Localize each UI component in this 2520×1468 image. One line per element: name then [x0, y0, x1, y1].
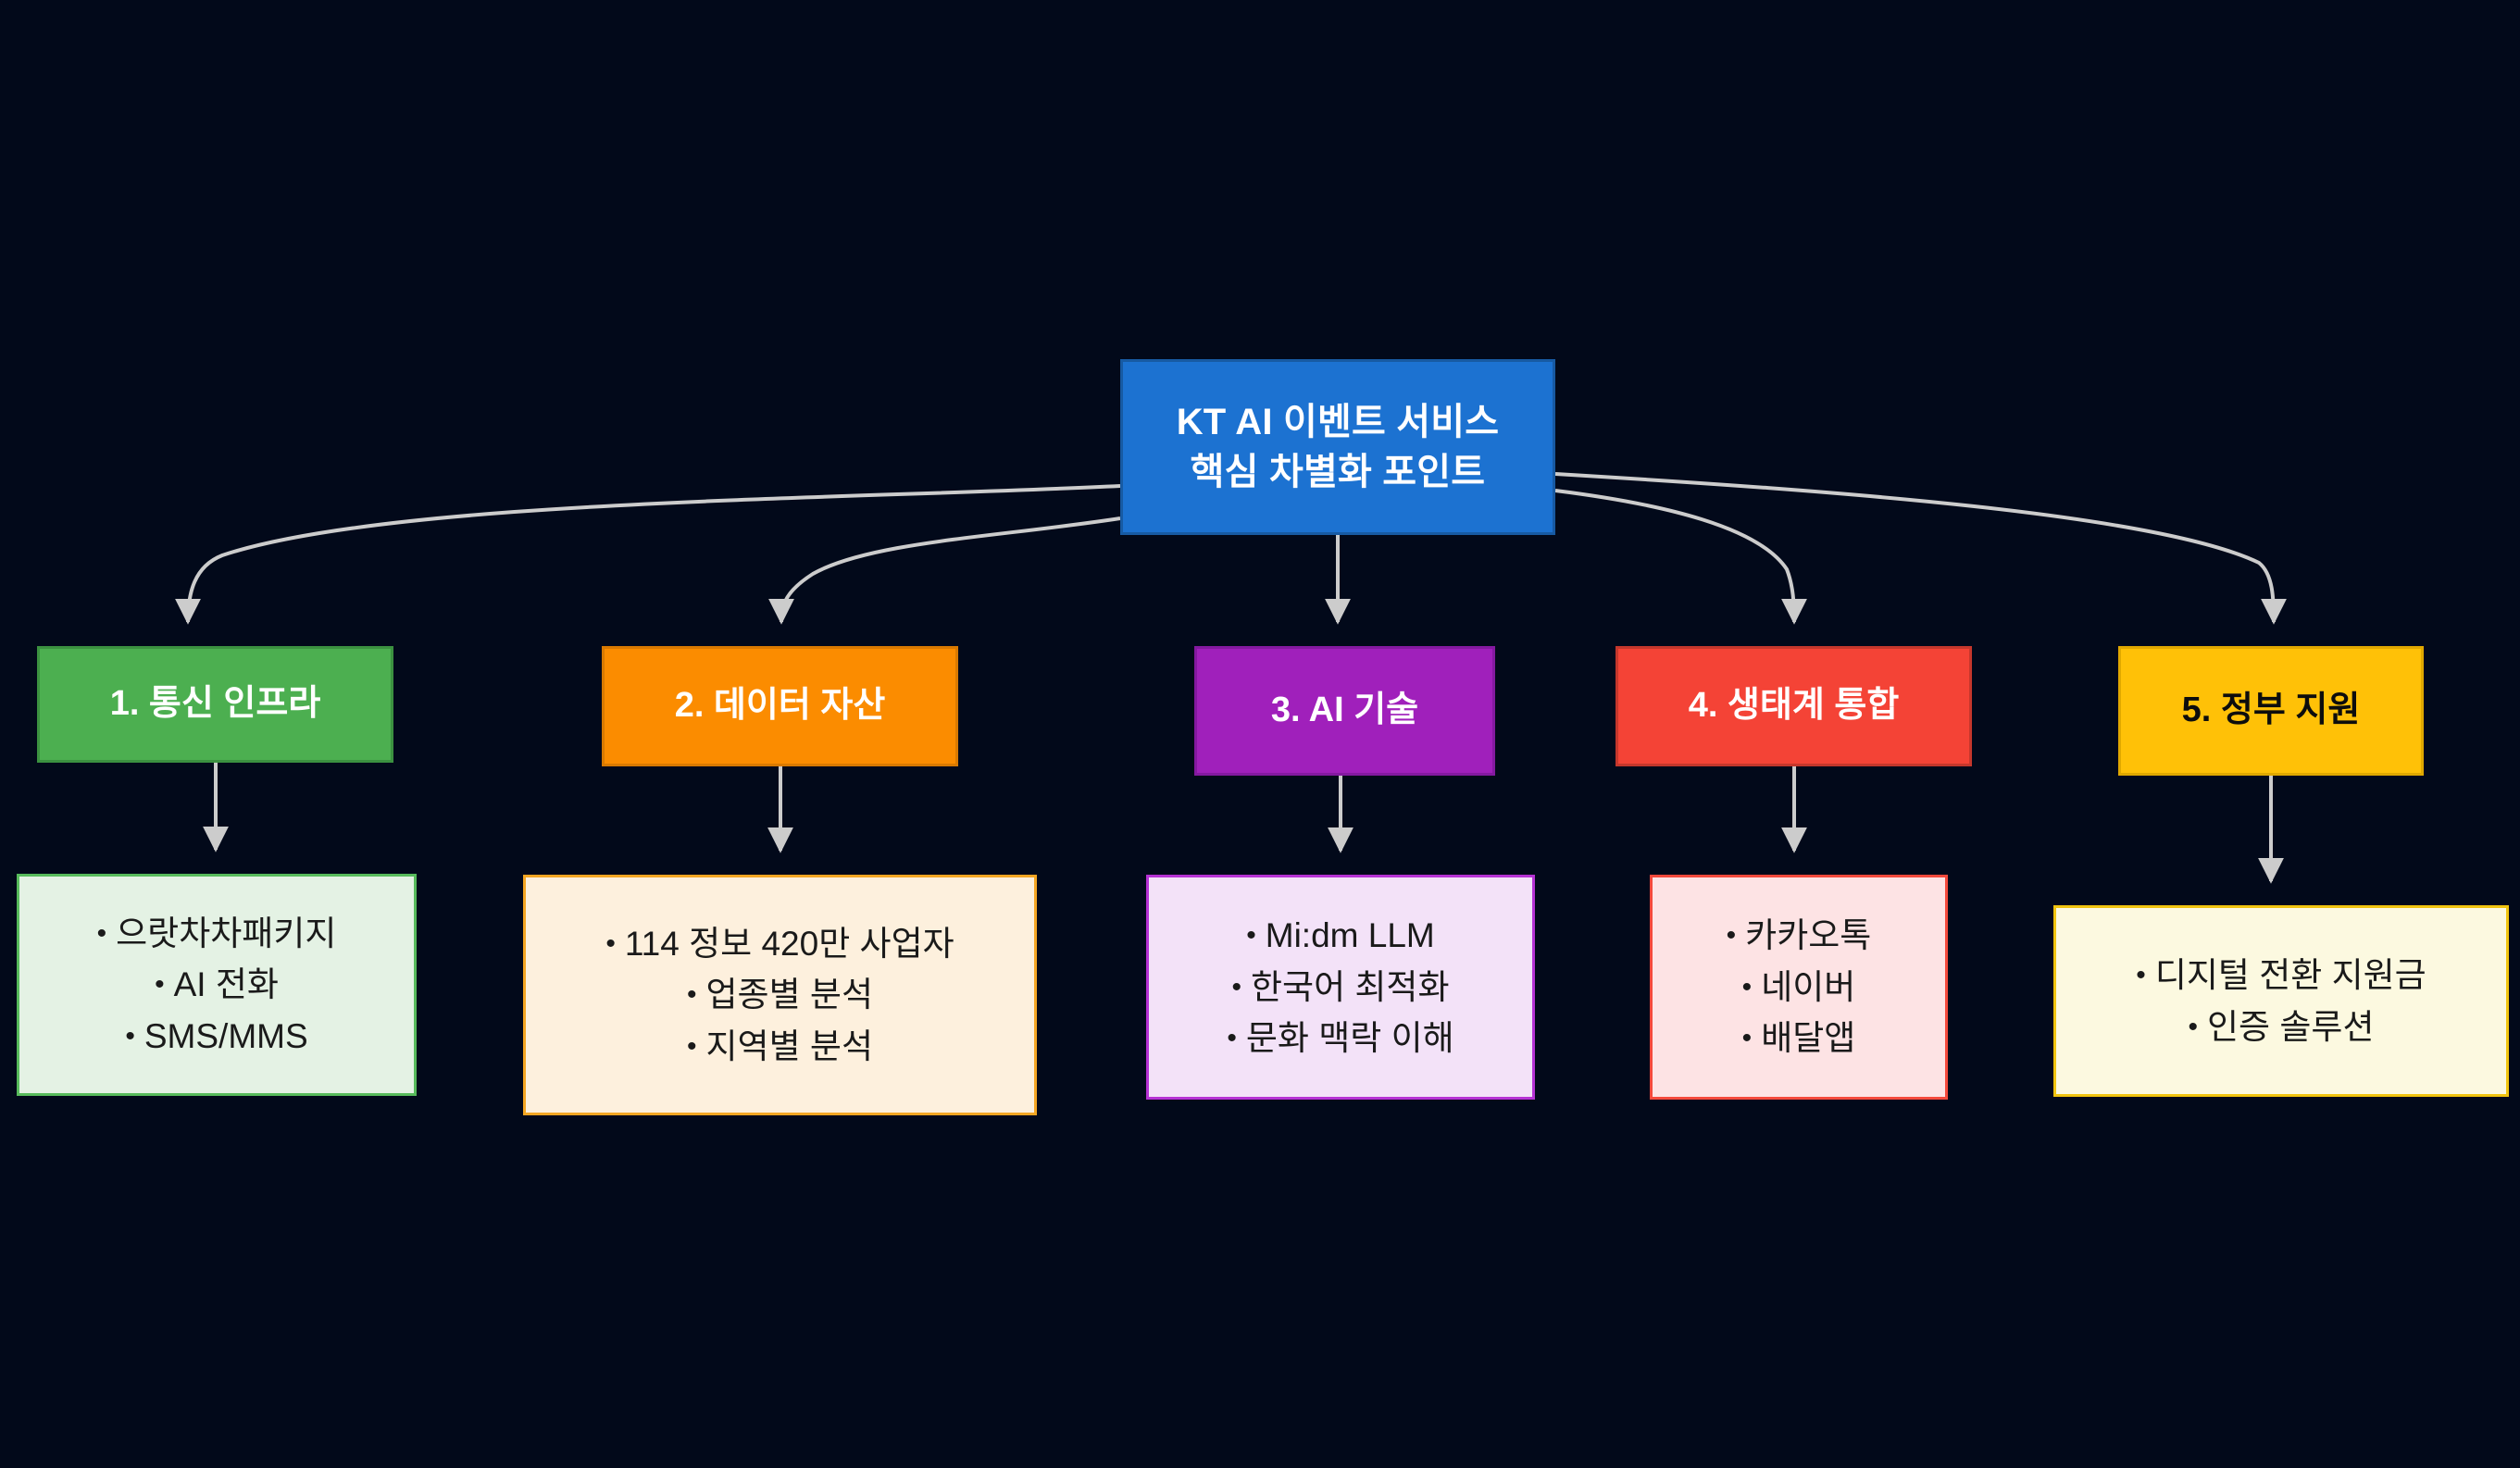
bullet-icon: •	[2136, 960, 2155, 990]
bullet-icon: •	[1742, 972, 1762, 1002]
list-item-label: 문화 맥락 이해	[1246, 1019, 1454, 1057]
node-root[interactable]: KT AI 이벤트 서비스 핵심 차별화 포인트	[1120, 359, 1555, 535]
list-item-label: 카카오톡	[1745, 916, 1871, 954]
list-item-label: 인증 솔루션	[2207, 1008, 2374, 1046]
bullet-icon: •	[687, 979, 706, 1010]
node-branch-4[interactable]: 4. 생태계 통합	[1616, 646, 1972, 766]
node-branch-4-label: 4. 생태계 통합	[1689, 682, 1900, 729]
list-item: •지역별 분석	[605, 1021, 954, 1073]
node-branch-1[interactable]: 1. 통신 인프라	[37, 646, 393, 763]
node-branch-5-label: 5. 정부 지원	[2182, 687, 2361, 734]
bullet-icon: •	[687, 1031, 706, 1062]
leaf-2-list: •114 정보 420만 사업자 •업종별 분석 •지역별 분석	[605, 918, 954, 1073]
list-item: •문화 맥락 이해	[1227, 1013, 1453, 1064]
bullet-icon: •	[1231, 972, 1251, 1002]
leaf-4-list: •카카오톡 •네이버 •배달앱	[1727, 910, 1872, 1064]
bullet-icon: •	[605, 928, 625, 959]
bullet-icon: •	[2189, 1012, 2208, 1042]
list-item: •디지털 전환 지원금	[2136, 950, 2426, 1001]
leaf-5-list: •디지털 전환 지원금 •인증 솔루션	[2136, 950, 2426, 1052]
bullet-icon: •	[1246, 920, 1266, 951]
list-item-label: AI 전화	[174, 965, 279, 1003]
list-item-label: 지역별 분석	[706, 1027, 873, 1065]
node-branch-2-label: 2. 데이터 자산	[675, 682, 886, 729]
diagram-canvas: KT AI 이벤트 서비스 핵심 차별화 포인트 1. 통신 인프라 •으랏차차…	[0, 0, 2520, 1468]
node-branch-5[interactable]: 5. 정부 지원	[2118, 646, 2424, 776]
list-item-label: 으랏차차패키지	[116, 914, 336, 952]
edge-root-to-b5	[1555, 474, 2274, 622]
node-leaf-5[interactable]: •디지털 전환 지원금 •인증 솔루션	[2053, 905, 2509, 1097]
bullet-icon: •	[125, 1021, 144, 1051]
node-leaf-2[interactable]: •114 정보 420만 사업자 •업종별 분석 •지역별 분석	[523, 875, 1037, 1115]
list-item: •네이버	[1727, 962, 1872, 1014]
list-item-label: 업종별 분석	[706, 976, 873, 1014]
node-branch-1-label: 1. 통신 인프라	[110, 680, 321, 728]
list-item: •업종별 분석	[605, 969, 954, 1021]
list-item: •배달앱	[1727, 1013, 1872, 1064]
list-item-label: 한국어 최적화	[1251, 968, 1450, 1006]
list-item-label: 114 정보 420만 사업자	[625, 925, 954, 963]
list-item: •인증 솔루션	[2136, 1001, 2426, 1053]
node-branch-2[interactable]: 2. 데이터 자산	[602, 646, 958, 766]
list-item: •SMS/MMS	[97, 1011, 337, 1063]
list-item-label: 네이버	[1761, 968, 1855, 1006]
node-leaf-4[interactable]: •카카오톡 •네이버 •배달앱	[1650, 875, 1948, 1100]
list-item: •으랏차차패키지	[97, 908, 337, 960]
bullet-icon: •	[1742, 1023, 1762, 1053]
edge-root-to-b4	[1555, 491, 1794, 622]
list-item-label: SMS/MMS	[144, 1017, 308, 1055]
list-item-label: 배달앱	[1761, 1019, 1855, 1057]
list-item: •AI 전화	[97, 959, 337, 1011]
bullet-icon: •	[1727, 920, 1746, 951]
bullet-icon: •	[155, 969, 174, 1000]
node-root-label: KT AI 이벤트 서비스 핵심 차별화 포인트	[1177, 397, 1500, 497]
list-item-label: 디지털 전환 지원금	[2155, 956, 2426, 994]
edge-root-to-b1	[188, 486, 1120, 622]
node-branch-3[interactable]: 3. AI 기술	[1194, 646, 1495, 776]
leaf-3-list: •Mi:dm LLM •한국어 최적화 •문화 맥락 이해	[1227, 910, 1453, 1064]
list-item: •114 정보 420만 사업자	[605, 918, 954, 970]
bullet-icon: •	[1227, 1023, 1246, 1053]
node-leaf-1[interactable]: •으랏차차패키지 •AI 전화 •SMS/MMS	[17, 874, 417, 1096]
list-item: •카카오톡	[1727, 910, 1872, 962]
edge-root-to-b2	[781, 518, 1120, 622]
list-item: •한국어 최적화	[1227, 962, 1453, 1014]
node-leaf-3[interactable]: •Mi:dm LLM •한국어 최적화 •문화 맥락 이해	[1146, 875, 1535, 1100]
list-item: •Mi:dm LLM	[1227, 910, 1453, 962]
leaf-1-list: •으랏차차패키지 •AI 전화 •SMS/MMS	[97, 908, 337, 1063]
bullet-icon: •	[97, 918, 117, 949]
node-branch-3-label: 3. AI 기술	[1271, 687, 1418, 734]
list-item-label: Mi:dm LLM	[1266, 916, 1435, 954]
